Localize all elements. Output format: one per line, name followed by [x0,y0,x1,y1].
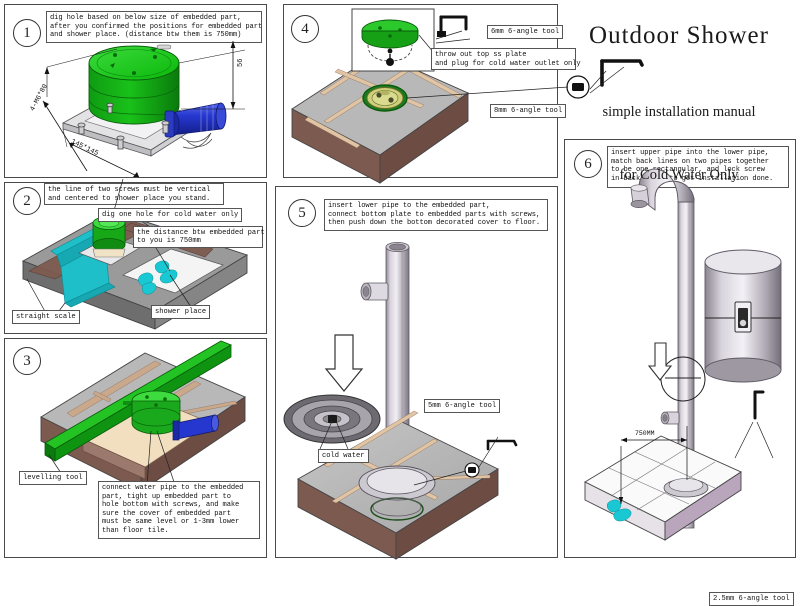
step-number-4: 4 [291,15,319,43]
label-straight-scale: straight scale [12,310,80,324]
label-tool-25mm: 2.5mm 6-angle tool [709,592,794,606]
step-number-1: 1 [13,19,41,47]
step-number-5: 5 [288,199,316,227]
title-block: Outdoor Shower simple installation manua… [560,22,798,228]
step-3-caption: connect water pipe to the embedded part,… [98,481,260,539]
manual-page: 1 dig hole based on below size of embedd… [0,0,800,581]
panel-step-1: 1 dig hole based on below size of embedd… [4,4,267,178]
label-tool-6mm: 6mm 6-angle tool [487,25,563,39]
label-tool-5mm: 5mm 6-angle tool [424,399,500,413]
panel-step-4: 4 [283,4,558,178]
label-distance-btw: the distance btw embedded part to you is… [133,226,263,248]
panel-step-2: 2 the line of two screws must be vertica… [4,182,267,334]
dim-56: 56 [237,59,245,67]
dim-145x145: 145*145 [69,138,99,158]
label-levelling-tool: levelling tool [19,471,87,485]
step-2-caption: the line of two screws must be vertical … [44,183,224,205]
page-subtitle: simple installation manual for Cold Wate… [560,60,798,228]
step-number-2: 2 [13,187,41,215]
label-tool-8mm: 8mm 6-angle tool [490,104,566,118]
label-cold-water: cold water [318,449,369,463]
label-dig-one-hole: dig one hole for cold water only [98,208,242,222]
panel-step-5: 5 insert lower pipe to the embedded part… [275,186,558,558]
step-number-3: 3 [13,347,41,375]
step-1-caption: dig hole based on below size of embedded… [46,11,262,43]
step-5-illustration [276,187,559,559]
step-5-caption: insert lower pipe to the embedded part, … [324,199,548,231]
panel-step-3: 3 [4,338,267,558]
page-title: Outdoor Shower [560,22,798,50]
dim-750mm: 750MM [635,430,655,437]
subtitle-line-1: simple installation manual [560,102,798,123]
subtitle-line-2: for Cold Water Only [560,165,798,186]
label-shower-place: shower place [151,305,210,319]
step-4-caption: throw out top ss plate and plug for cold… [431,48,576,70]
dim-4-m6-80: 4-M6*80 [29,83,50,113]
